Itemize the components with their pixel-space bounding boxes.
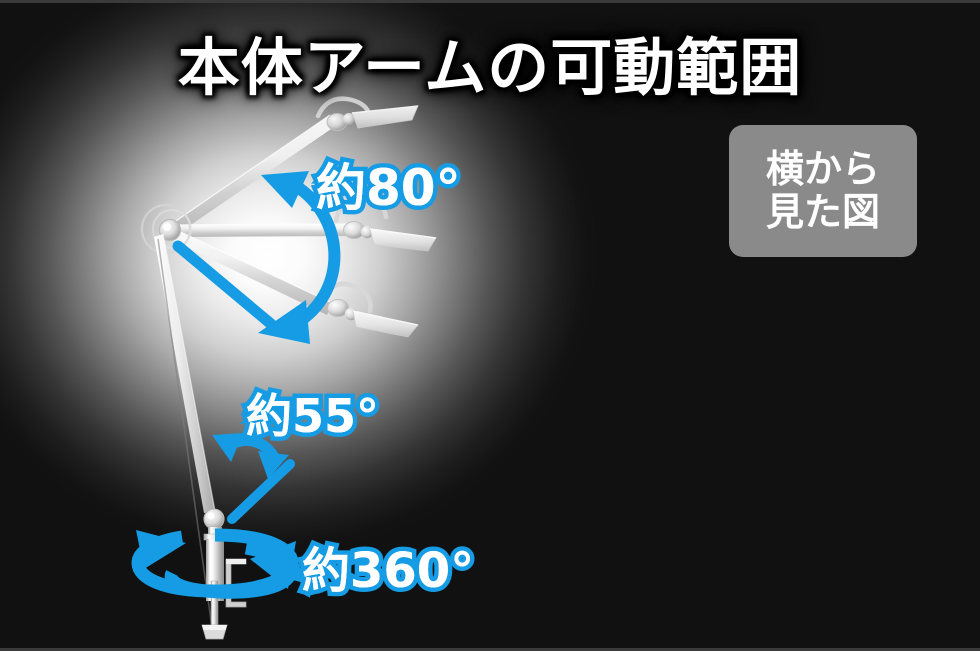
angle-label-360: 約360° 約360°: [302, 531, 474, 601]
angle-label-80: 約80° 約80°: [316, 148, 461, 220]
angle-label-80-fill: 約80°: [316, 148, 461, 220]
page-title: 本体アームの可動範囲: [0, 17, 980, 107]
angle-label-55: 約55° 約55°: [246, 380, 379, 446]
illustration-canvas: 本体アームの可動範囲 横から 見た図 約80° 約80° 約55° 約55° 約…: [0, 0, 980, 651]
angle-label-55-fill: 約55°: [246, 380, 379, 446]
angle-reference-line-55: [232, 464, 290, 519]
angle-label-360-fill: 約360°: [302, 531, 474, 601]
lamp-post: [154, 234, 215, 635]
view-angle-badge: 横から 見た図: [729, 125, 917, 257]
view-angle-badge-line2: 見た図: [766, 191, 880, 234]
view-angle-badge-line1: 横から: [766, 148, 880, 191]
